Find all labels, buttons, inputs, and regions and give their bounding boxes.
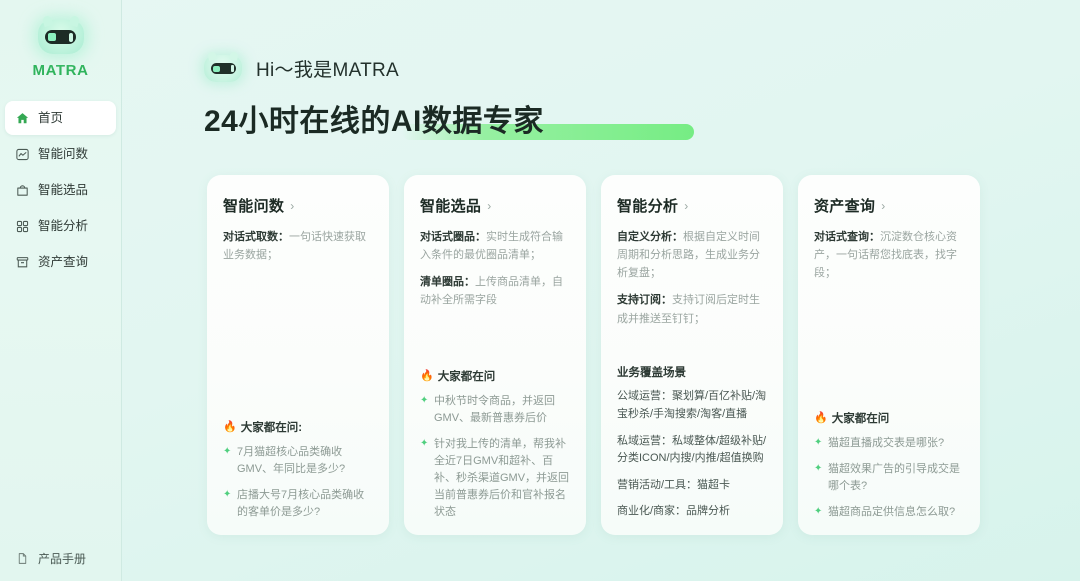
question-text: 7月猫超核心品类确收GMV、年同比是多少?	[237, 444, 373, 478]
feature-cards: 智能问数 › 对话式取数：一句话快速获取业务数据； 🔥 大家都在问: ✦ 7月猫…	[207, 175, 1050, 535]
card-section-heading: 🔥 大家都在问	[420, 368, 570, 384]
feature-label: 自定义分析：	[617, 231, 683, 243]
home-icon	[15, 111, 30, 126]
feature-label: 清单圈品：	[420, 276, 475, 288]
product-manual-label: 产品手册	[38, 550, 86, 567]
sidebar-item-home[interactable]: 首页	[5, 101, 116, 135]
feature-label: 支持订阅：	[617, 294, 672, 306]
list-item[interactable]: ✦ 猫超效果广告的引导成交是哪个表?	[814, 461, 964, 495]
bag-icon	[15, 183, 30, 198]
card-title: 智能分析	[617, 195, 678, 216]
card-smart-selection[interactable]: 智能选品 › 对话式圈品：实时生成符合输入条件的最优圈品清单； 清单圈品：上传商…	[404, 175, 586, 535]
question-text: 针对我上传的清单，帮我补全近7日GMV和超补、百补、秒杀渠道GMV，并返回当前普…	[434, 436, 570, 521]
sidebar-item-label: 首页	[38, 112, 63, 125]
goggle-eye-left	[213, 66, 220, 72]
fire-icon: 🔥	[814, 411, 828, 424]
question-text: 猫超商品定供信息怎么取?	[828, 504, 955, 521]
chevron-right-icon: ›	[881, 200, 885, 212]
card-section-label: 业务覆盖场景	[617, 364, 686, 380]
sidebar-item-label: 智能选品	[38, 184, 88, 197]
product-manual-link[interactable]: 产品手册	[0, 550, 121, 567]
card-section-label: 大家都在问	[438, 368, 496, 384]
sparkle-icon: ✦	[420, 393, 429, 427]
feature-label: 对话式查询：	[814, 231, 880, 243]
greeting-row: Hi～我是MATRA	[122, 55, 1080, 82]
card-feature: 对话式圈品：实时生成符合输入条件的最优圈品清单；	[420, 228, 570, 264]
list-item[interactable]: ✦ 中秋节时令商品，并返回GMV、最新普惠券后价	[420, 393, 570, 427]
chevron-right-icon: ›	[487, 200, 491, 212]
sparkle-icon: ✦	[223, 444, 232, 478]
list-item[interactable]: ✦ 7月猫超核心品类确收GMV、年同比是多少?	[223, 444, 373, 478]
brand-name: MATRA	[32, 62, 88, 79]
question-list: ✦ 7月猫超核心品类确收GMV、年同比是多少? ✦ 店播大号7月核心品类确收的客…	[223, 444, 373, 521]
list-item: 公域运营：聚划算/百亿补贴/淘宝秒杀/手淘搜索/淘客/直播	[617, 388, 767, 423]
list-item: 营销活动/工具：猫超卡	[617, 477, 767, 495]
card-feature: 对话式取数：一句话快速获取业务数据；	[223, 228, 373, 264]
sidebar-item-asset-query[interactable]: 资产查询	[5, 245, 116, 279]
question-text: 中秋节时令商品，并返回GMV、最新普惠券后价	[434, 393, 570, 427]
brand: MATRA	[0, 20, 121, 79]
list-item[interactable]: ✦ 店播大号7月核心品类确收的客单价是多少?	[223, 487, 373, 521]
card-title-row[interactable]: 智能分析 ›	[617, 195, 767, 216]
fire-icon: 🔥	[223, 420, 237, 433]
sparkle-icon: ✦	[420, 436, 429, 521]
sidebar: MATRA 首页 智能问数 智能选品 智能分析	[0, 0, 122, 581]
card-spacer	[420, 319, 570, 368]
goggle-eye-left	[48, 33, 56, 41]
headline-wrap: 24小时在线的AI数据专家	[122, 96, 544, 140]
main-content: Hi～我是MATRA 24小时在线的AI数据专家 智能问数 › 对话式取数：一句…	[122, 0, 1080, 581]
sidebar-item-smart-query[interactable]: 智能问数	[5, 137, 116, 171]
document-icon	[15, 551, 30, 566]
chevron-right-icon: ›	[290, 200, 294, 212]
card-section-heading: 🔥 大家都在问:	[223, 419, 373, 435]
question-text: 猫超效果广告的引导成交是哪个表?	[828, 461, 964, 495]
greeting-text: Hi～我是MATRA	[256, 55, 399, 82]
feature-label: 对话式取数：	[223, 231, 289, 243]
sidebar-item-smart-selection[interactable]: 智能选品	[5, 173, 116, 207]
sidebar-item-smart-analysis[interactable]: 智能分析	[5, 209, 116, 243]
question-list: ✦ 猫超直播成交表是哪张? ✦ 猫超效果广告的引导成交是哪个表? ✦ 猫超商品定…	[814, 435, 964, 521]
card-section-label: 大家都在问	[832, 410, 890, 426]
card-title-row[interactable]: 智能选品 ›	[420, 195, 570, 216]
card-title: 资产查询	[814, 195, 875, 216]
goggle-eye-right	[69, 33, 73, 42]
feature-label: 对话式圈品：	[420, 231, 486, 243]
sidebar-item-label: 智能分析	[38, 220, 88, 233]
sidebar-item-label: 智能问数	[38, 148, 88, 161]
card-asset-query[interactable]: 资产查询 › 对话式查询：沉淀数仓核心资产，一句话帮您找底表，找字段； 🔥 大家…	[798, 175, 980, 535]
question-text: 店播大号7月核心品类确收的客单价是多少?	[237, 487, 373, 521]
list-item: 私域运营：私域整体/超级补贴/分类ICON/内搜/内推/超值换购	[617, 433, 767, 468]
card-section-heading: 🔥 大家都在问	[814, 410, 964, 426]
goggles-shape	[211, 63, 236, 74]
sidebar-item-label: 资产查询	[38, 256, 88, 269]
card-spacer	[223, 273, 373, 419]
card-title-row[interactable]: 资产查询 ›	[814, 195, 964, 216]
card-feature: 对话式查询：沉淀数仓核心资产，一句话帮您找底表，找字段；	[814, 228, 964, 282]
matra-goggles-avatar-icon	[204, 55, 242, 82]
list-item[interactable]: ✦ 针对我上传的清单，帮我补全近7日GMV和超补、百补、秒杀渠道GMV，并返回当…	[420, 436, 570, 521]
question-text: 猫超直播成交表是哪张?	[828, 435, 944, 452]
chevron-right-icon: ›	[684, 200, 688, 212]
card-title: 智能选品	[420, 195, 481, 216]
sparkle-icon: ✦	[223, 487, 232, 521]
card-feature: 清单圈品：上传商品清单，自动补全所需字段	[420, 273, 570, 309]
card-title: 智能问数	[223, 195, 284, 216]
sparkle-icon: ✦	[814, 504, 823, 521]
fire-icon: 🔥	[420, 369, 434, 382]
card-smart-query[interactable]: 智能问数 › 对话式取数：一句话快速获取业务数据； 🔥 大家都在问: ✦ 7月猫…	[207, 175, 389, 535]
card-spacer	[814, 291, 964, 409]
list-item: 商业化/商家：品牌分析	[617, 503, 767, 521]
card-smart-analysis[interactable]: 智能分析 › 自定义分析：根据自定义时间周期和分析思路，生成业务分析复盘； 支持…	[601, 175, 783, 535]
goggle-eye-right	[231, 65, 234, 72]
matra-goggles-logo-icon	[38, 20, 84, 54]
list-item[interactable]: ✦ 猫超直播成交表是哪张?	[814, 435, 964, 452]
grid-icon	[15, 219, 30, 234]
list-item[interactable]: ✦ 猫超商品定供信息怎么取?	[814, 504, 964, 521]
card-section-heading: 业务覆盖场景	[617, 364, 767, 380]
chart-square-icon	[15, 147, 30, 162]
sparkle-icon: ✦	[814, 461, 823, 495]
sparkle-icon: ✦	[814, 435, 823, 452]
goggles-shape	[45, 30, 76, 44]
card-section-label: 大家都在问:	[241, 419, 302, 435]
card-title-row[interactable]: 智能问数 ›	[223, 195, 373, 216]
archive-icon	[15, 255, 30, 270]
page-title: 24小时在线的AI数据专家	[204, 96, 544, 140]
question-list: ✦ 中秋节时令商品，并返回GMV、最新普惠券后价 ✦ 针对我上传的清单，帮我补全…	[420, 393, 570, 521]
card-feature: 支持订阅：支持订阅后定时生成并推送至钉钉；	[617, 291, 767, 327]
card-feature: 自定义分析：根据自定义时间周期和分析思路，生成业务分析复盘；	[617, 228, 767, 282]
sidebar-nav: 首页 智能问数 智能选品 智能分析 资产查询	[0, 101, 121, 279]
scene-list: 公域运营：聚划算/百亿补贴/淘宝秒杀/手淘搜索/淘客/直播 私域运营：私域整体/…	[617, 388, 767, 521]
